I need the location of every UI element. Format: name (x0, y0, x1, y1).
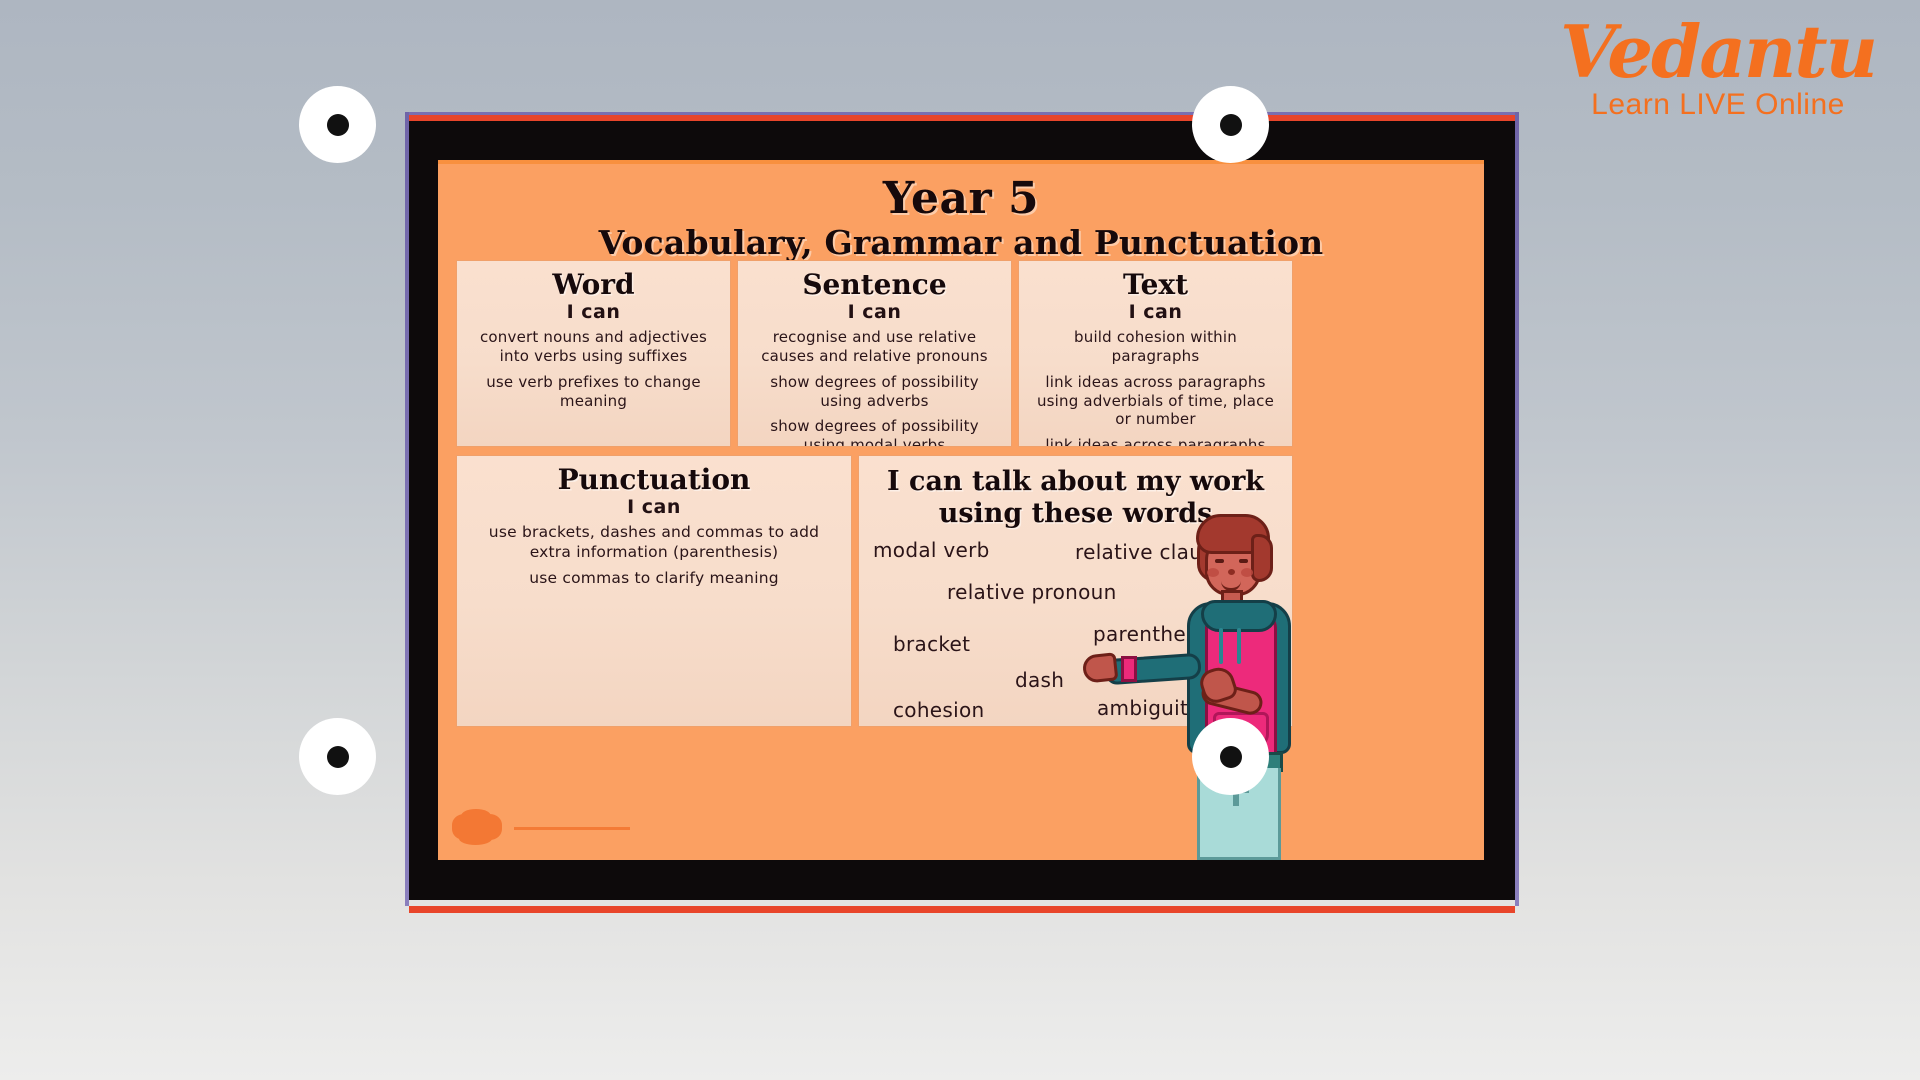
character-cheek-right (1241, 568, 1253, 577)
card-objective: recognise and use relative causes and re… (748, 328, 1001, 366)
card-objective-list: recognise and use relative causes and re… (748, 328, 1001, 447)
character-nose (1228, 569, 1235, 575)
card-objective: show degrees of possibility using modal … (748, 417, 1001, 447)
character-pointing-hand (1082, 652, 1119, 683)
card-ican-label: I can (457, 496, 851, 518)
page-title: Year 5 (438, 176, 1484, 222)
poster-heading: Year 5 Vocabulary, Grammar and Punctuati… (438, 176, 1484, 261)
card-ican-label: I can (738, 301, 1011, 323)
page-subtitle: Vocabulary, Grammar and Punctuation (438, 226, 1484, 261)
word-bank-term: bracket (893, 632, 970, 656)
card-objective: convert nouns and adjectives into verbs … (467, 328, 720, 366)
marker-top-right[interactable] (1192, 86, 1269, 163)
marker-bottom-right[interactable] (1192, 718, 1269, 795)
card-text: Text I can build cohesion within paragra… (1018, 260, 1293, 447)
card-title: Word (457, 270, 730, 299)
character-drawstring-right (1237, 628, 1241, 664)
card-objective-list: convert nouns and adjectives into verbs … (467, 328, 720, 410)
card-objective: show degrees of possibility using adverb… (748, 373, 1001, 411)
marker-dot-icon (1220, 746, 1242, 768)
character-cheek-left (1207, 568, 1219, 577)
word-bank-heading-line1: I can talk about my work (859, 466, 1292, 498)
card-title: Text (1019, 270, 1292, 299)
card-objective-list: build cohesion within paragraphs link id… (1029, 328, 1282, 447)
card-objective: use commas to clarify meaning (467, 569, 841, 588)
twinkl-logo-watermark (452, 812, 642, 846)
word-bank-term: dash (1015, 668, 1064, 692)
character-drawstring-left (1219, 628, 1223, 664)
lesson-poster-slide: Year 5 Vocabulary, Grammar and Punctuati… (438, 160, 1484, 860)
marker-dot-icon (327, 114, 349, 136)
character-sleeve-cuff (1121, 656, 1137, 682)
word-bank-term: cohesion (893, 698, 985, 722)
watermark-rule (514, 827, 630, 830)
marker-dot-icon (327, 746, 349, 768)
video-frame: Year 5 Vocabulary, Grammar and Punctuati… (409, 112, 1515, 906)
character-eye-left (1215, 559, 1224, 563)
card-title: Sentence (738, 270, 1011, 299)
card-objective: link ideas across paragraphs with my cho… (1029, 436, 1282, 447)
slide-top-strip (438, 160, 1484, 164)
card-ican-label: I can (457, 301, 730, 323)
marker-bottom-left[interactable] (299, 718, 376, 795)
vedantu-branding: Vedantu Learn LIVE Online (1548, 18, 1888, 122)
word-bank-term: modal verb (873, 538, 990, 562)
card-objective: use verb prefixes to change meaning (467, 373, 720, 411)
card-word: Word I can convert nouns and adjectives … (456, 260, 731, 447)
character-hair-side (1251, 534, 1273, 582)
card-sentence: Sentence I can recognise and use relativ… (737, 260, 1012, 447)
vedantu-tagline: Learn LIVE Online (1548, 88, 1888, 122)
card-punctuation: Punctuation I can use brackets, dashes a… (456, 455, 852, 727)
frame-edge-right (1515, 112, 1519, 906)
character-eye-right (1239, 559, 1248, 563)
twinkl-blob-icon (452, 814, 502, 840)
card-objective: build cohesion within paragraphs (1029, 328, 1282, 366)
card-objective: link ideas across paragraphs using adver… (1029, 373, 1282, 429)
card-ican-label: I can (1019, 301, 1292, 323)
word-bank-term: relative pronoun (947, 580, 1117, 604)
card-objective: use brackets, dashes and commas to add e… (467, 523, 841, 562)
child-character-illustration (1179, 516, 1299, 860)
video-letterbox: Year 5 Vocabulary, Grammar and Punctuati… (409, 121, 1515, 900)
marker-dot-icon (1220, 114, 1242, 136)
card-title: Punctuation (457, 465, 851, 494)
card-objective-list: use brackets, dashes and commas to add e… (467, 523, 841, 588)
vedantu-wordmark: Vedantu (1548, 18, 1888, 86)
marker-top-left[interactable] (299, 86, 376, 163)
frame-accent-red-bottom (409, 906, 1515, 913)
